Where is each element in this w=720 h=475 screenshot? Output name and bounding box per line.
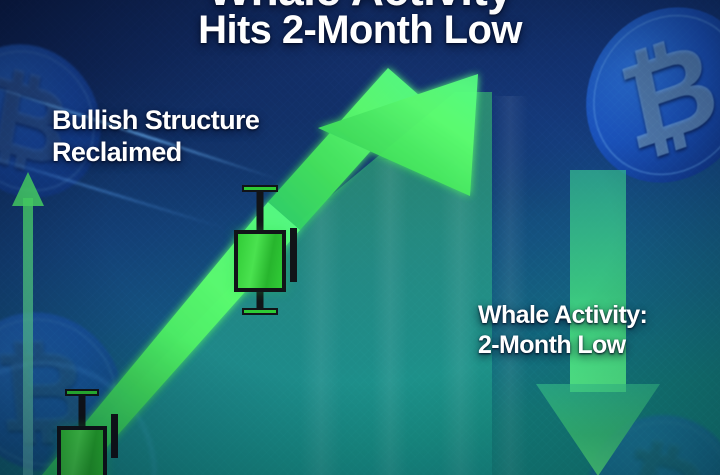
- coin-ring: [579, 406, 720, 475]
- coin-disc: [0, 311, 131, 473]
- coin-ring: [0, 318, 124, 467]
- candle-body: [234, 230, 286, 292]
- bitcoin-coin-icon: ₿: [572, 399, 720, 475]
- candle-lower-wick: [257, 290, 264, 312]
- bitcoin-glyph: ₿: [572, 399, 720, 475]
- callout-bullish: Bullish Structure Reclaimed: [52, 104, 259, 168]
- callout-whale: Whale Activity: 2-Month Low: [478, 300, 647, 360]
- bitcoin-coin-icon: ₿: [0, 311, 131, 473]
- infographic-canvas: ₿ ₿ ₿ ₿: [0, 0, 720, 475]
- light-streak: [0, 362, 156, 475]
- callout-bullish-line1: Bullish Structure: [52, 104, 259, 136]
- callout-whale-line1: Whale Activity:: [478, 300, 647, 330]
- candle-upper-wick: [257, 188, 264, 232]
- callout-bullish-line2: Reclaimed: [52, 136, 259, 168]
- candlestick-bullish: [234, 182, 286, 312]
- bitcoin-glyph: ₿: [0, 311, 131, 473]
- candle-high-cap: [242, 185, 278, 192]
- candle-neighbor-wick: [290, 228, 297, 282]
- candle-high-cap: [65, 389, 99, 396]
- candle-low-cap: [242, 308, 278, 315]
- candle-neighbor-wick: [111, 414, 118, 458]
- callout-whale-line2: 2-Month Low: [478, 330, 647, 360]
- candle-body: [57, 426, 107, 475]
- vignette-overlay: [0, 0, 720, 475]
- trend-area-fill: [0, 0, 720, 475]
- candle-upper-wick: [79, 392, 86, 428]
- thin-up-arrow-icon: [8, 170, 48, 475]
- halftone-texture: [0, 0, 720, 475]
- candlestick-low: [57, 388, 107, 475]
- page-title: Hits 2-Month Low: [0, 8, 720, 53]
- coin-disc: [572, 399, 720, 475]
